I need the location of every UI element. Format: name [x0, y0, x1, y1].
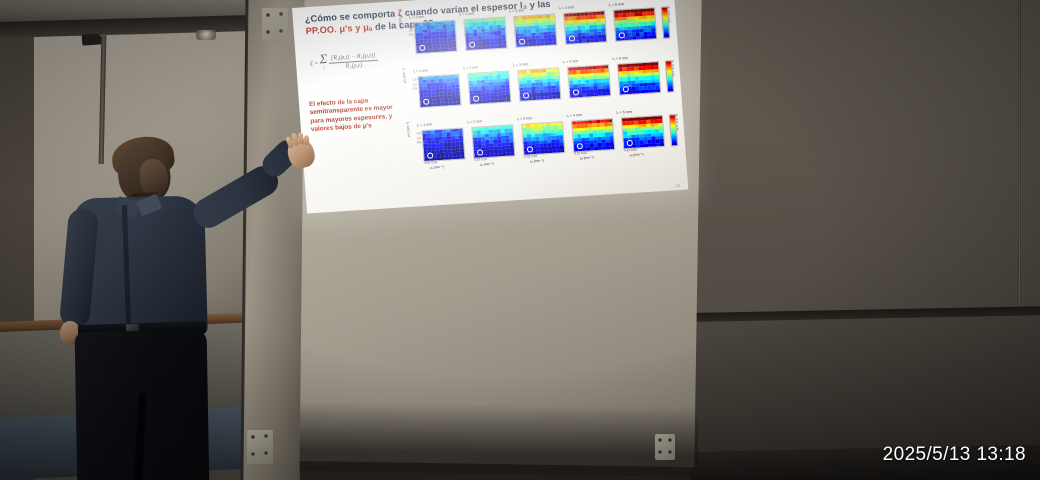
- heatmap-x-ticks: 0.01 0.02: [574, 151, 587, 156]
- note-b1: efecto: [317, 99, 336, 107]
- formula-fraction: [R₁(ρ,t) − R₂(ρ,t)] R₂(ρ,t): [329, 51, 379, 71]
- projection-board-shadow: [285, 401, 698, 477]
- heatmap-panel: l₃ = 3 mm0.01 0.02μₐ [mm⁻¹]: [513, 122, 557, 158]
- right-wall-upper-panel: [690, 0, 1040, 322]
- heatmap-panel: l₃ = 5 mm: [609, 62, 653, 98]
- formula-denominator: R₂(ρ,t): [329, 60, 378, 71]
- heatmap-grid: l₃ = 1 mm1.51.00.5μ's [mm⁻¹]l₃ = 2 mml₃ …: [405, 7, 675, 187]
- heatmap-y-axis-label: μ's [mm⁻¹]: [406, 122, 411, 137]
- heatmap-panel: l₃ = 1 mm1.51.00.5μ's [mm⁻¹]0.01 0.02μₐ …: [413, 128, 457, 164]
- heatmap-panel: l₃ = 2 mm0.01 0.02μₐ [mm⁻¹]: [463, 125, 507, 161]
- heatmap-panel: l₃ = 5 mm: [605, 8, 649, 44]
- heatmap-panel: l₃ = 2 mm: [455, 17, 499, 53]
- heatmap-y-ticks: 1.51.00.5: [408, 77, 417, 91]
- presenter: [20, 135, 280, 480]
- note-b5: bajos: [335, 124, 352, 132]
- pillar-bolt-plate: [262, 8, 288, 42]
- heatmap-x-ticks: 0.01 0.02: [524, 154, 537, 159]
- heatmap-pixel: [556, 95, 560, 99]
- heatmap-panel: l₃ = 1 mm1.51.00.5μ's [mm⁻¹]: [405, 20, 449, 56]
- heatmap-x-axis-label: μₐ [mm⁻¹]: [430, 165, 444, 170]
- heatmap-pixel: [506, 98, 510, 102]
- note-p3: es: [363, 105, 374, 113]
- heatmap-pixel: [606, 92, 610, 96]
- heatmap-pixel: [456, 101, 460, 105]
- heatmap-x-axis-label: μₐ [mm⁻¹]: [530, 159, 544, 164]
- heatmap-panel: l₃ = 4 mm: [559, 65, 603, 101]
- right-wall-panel-seam: [1018, 0, 1021, 322]
- projected-slide: ¿Cómo se comporta ζ cuando varían el esp…: [292, 0, 688, 213]
- board-bolt-plate-right: [655, 434, 675, 460]
- colorbar-ticks: 86420: [668, 6, 671, 24]
- note-p4: para: [310, 117, 326, 125]
- heatmap-pixel: [460, 155, 464, 159]
- heatmap-x-axis-label: μₐ [mm⁻¹]: [480, 162, 494, 167]
- note-b6: μ's: [363, 122, 372, 130]
- heatmap-pixel: [502, 44, 506, 48]
- formula-lhs: ζ =: [310, 60, 319, 67]
- heatmap-panel: l₃ = 5 mm0.01 0.02μₐ [mm⁻¹]: [613, 115, 657, 151]
- heatmap-pixel: [452, 47, 456, 51]
- heatmap-y-ticks: 1.51.00.5: [404, 23, 413, 37]
- slide-title-part-3: y las: [527, 0, 551, 10]
- heatmap-pixel: [656, 89, 660, 93]
- colorbar-ticks: 86420: [676, 114, 679, 132]
- heatmap-pixel: [510, 152, 514, 156]
- conduit-bracket: [82, 33, 103, 45]
- heatmap-pixel: [660, 143, 664, 147]
- slide-content: ¿Cómo se comporta ζ cuando varían el esp…: [292, 0, 688, 213]
- colorbar-ticks: 86420: [672, 60, 675, 78]
- photo-frame: ¿Cómo se comporta ζ cuando varían el esp…: [0, 0, 1040, 480]
- heatmap-y-ticks: 1.51.00.5: [412, 131, 421, 145]
- summation-icon: Σ i: [319, 54, 328, 72]
- heatmap-pixel: [652, 35, 656, 39]
- note-b3: mayor: [373, 104, 393, 112]
- heatmap-x-axis-label: μₐ [mm⁻¹]: [630, 152, 644, 157]
- heatmap-panel: l₃ = 3 mm: [505, 14, 549, 50]
- ceiling-light-fixture: [196, 30, 216, 40]
- slide-page-number: 23: [675, 183, 680, 188]
- slide-title-mus-symbol: μ's: [339, 23, 353, 34]
- heatmap-pixel: [602, 38, 606, 42]
- heatmap-pixel: [560, 149, 564, 153]
- slide-title-ppoo: PP.OO.: [305, 24, 339, 36]
- heatmap-pixel: [552, 41, 556, 45]
- heatmap-x-axis-label: μₐ [mm⁻¹]: [580, 155, 594, 160]
- heatmap-panel: l₃ = 4 mm0.01 0.02μₐ [mm⁻¹]: [563, 119, 607, 155]
- heatmap-panel: l₃ = 1 mm1.51.00.5μ's [mm⁻¹]: [409, 74, 453, 110]
- note-p6: de: [352, 123, 364, 131]
- heatmap-y-axis-label: μ's [mm⁻¹]: [402, 68, 407, 83]
- heatmap-panel: l₃ = 4 mm: [555, 11, 599, 47]
- camera-timestamp: 2025/5/13 13:18: [883, 444, 1026, 466]
- slide-red-annotation: El efecto de la capa semitransparente es…: [309, 96, 397, 135]
- heatmap-x-ticks: 0.01 0.02: [624, 148, 637, 153]
- heatmap-panel: l₃ = 2 mm: [459, 71, 503, 107]
- heatmap-pixel: [610, 146, 614, 150]
- heatmap-panel: l₃ = 3 mm: [509, 68, 553, 104]
